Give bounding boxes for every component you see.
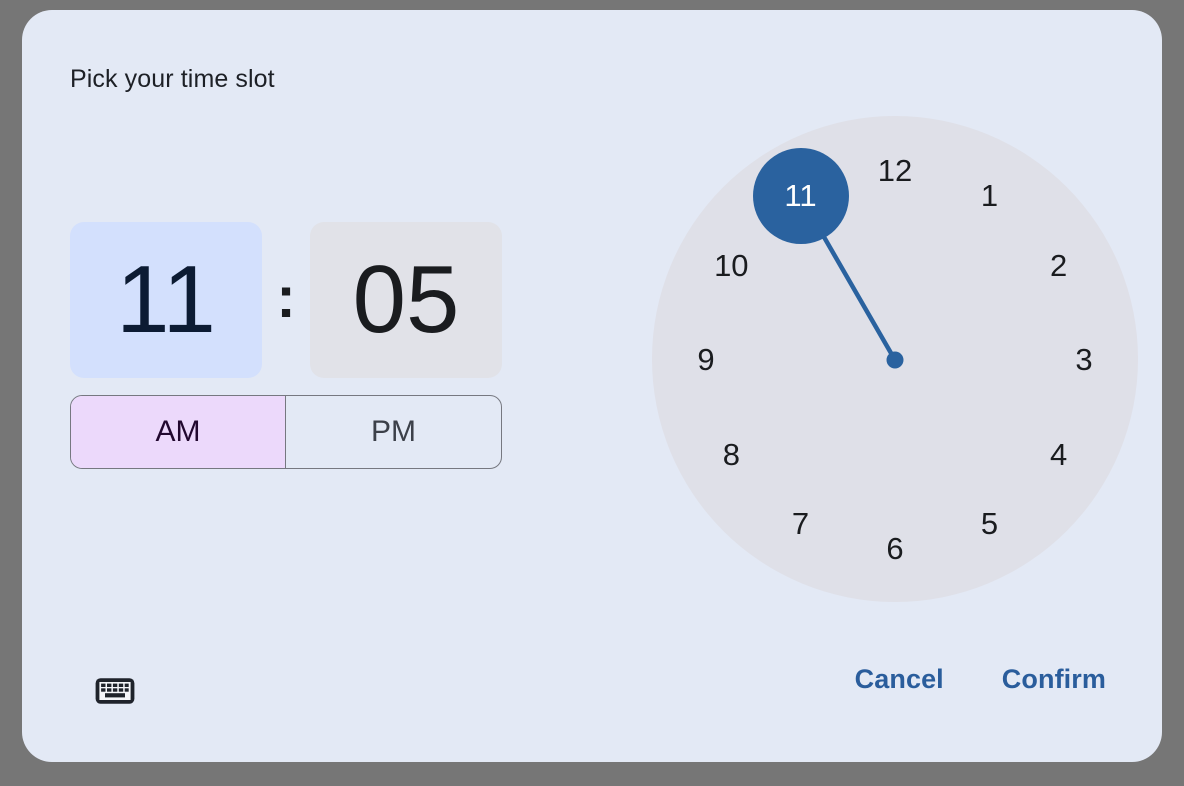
cancel-button[interactable]: Cancel (845, 656, 954, 703)
clock-number-10[interactable]: 10 (697, 232, 765, 300)
clock-number-6[interactable]: 6 (861, 515, 929, 583)
keyboard-icon (94, 675, 136, 707)
clock-number-1[interactable]: 1 (956, 162, 1024, 230)
clock-dial[interactable]: 121234567891011 (630, 96, 1158, 624)
clock-number-5[interactable]: 5 (956, 490, 1024, 558)
keyboard-input-toggle-button[interactable] (84, 660, 146, 722)
page-title: Pick your time slot (70, 65, 275, 94)
meridiem-option-am[interactable]: AM (71, 396, 286, 468)
clock-number-11[interactable]: 11 (753, 148, 849, 244)
clock-number-2[interactable]: 2 (1025, 232, 1093, 300)
clock-number-7[interactable]: 7 (767, 490, 835, 558)
meridiem-option-pm[interactable]: PM (286, 396, 501, 468)
meridiem-toggle: AM PM (70, 395, 502, 469)
clock-number-9[interactable]: 9 (672, 326, 740, 394)
clock-number-4[interactable]: 4 (1025, 421, 1093, 489)
time-separator: : (268, 222, 304, 378)
confirm-button[interactable]: Confirm (992, 656, 1116, 703)
clock-number-8[interactable]: 8 (697, 421, 765, 489)
clock-number-3[interactable]: 3 (1050, 326, 1118, 394)
hour-input[interactable]: 11 (70, 222, 262, 378)
dialog-actions: Cancel Confirm (845, 656, 1116, 703)
time-input-group: 11 : 05 (70, 222, 502, 378)
clock-number-12[interactable]: 12 (861, 137, 929, 205)
time-picker-dialog: Pick your time slot 11 : 05 AM PM 121234… (22, 10, 1162, 762)
minute-input[interactable]: 05 (310, 222, 502, 378)
